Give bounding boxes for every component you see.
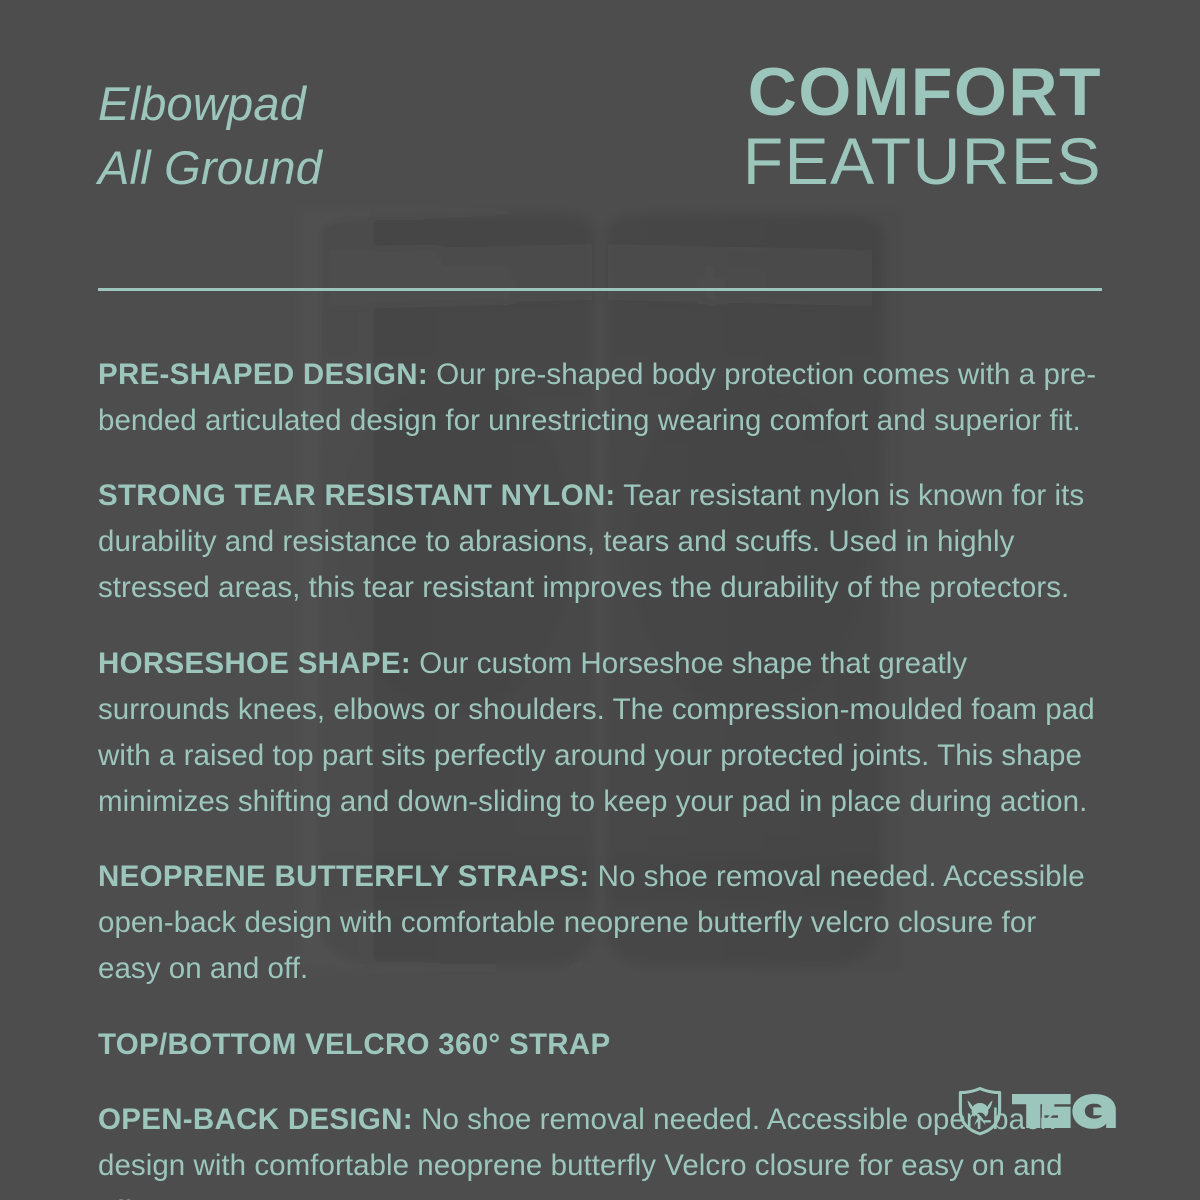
product-title: Elbowpad All Ground: [98, 72, 322, 200]
feature-label: PRE-SHAPED DESIGN:: [98, 358, 428, 391]
section-heading: COMFORT FEATURES: [743, 56, 1102, 196]
header-divider: [98, 288, 1102, 291]
feature-item-horseshoe-shape: HORSESHOE SHAPE: Our custom Horseshoe sh…: [98, 641, 1103, 825]
feature-item-pre-shaped-design: PRE-SHAPED DESIGN: Our pre-shaped body p…: [98, 352, 1103, 444]
feature-item-top-bottom-velcro-360-strap: TOP/BOTTOM VELCRO 360° STRAP: [98, 1022, 1103, 1068]
header: Elbowpad All Ground COMFORT FEATURES: [0, 0, 1200, 290]
feature-label: STRONG TEAR RESISTANT NYLON:: [98, 479, 616, 512]
feature-label: NEOPRENE BUTTERFLY STRAPS:: [98, 860, 589, 893]
product-feature-graphic: Elbowpad All Ground COMFORT FEATURES PRE…: [0, 0, 1200, 1200]
feature-item-open-back-design: OPEN-BACK DESIGN: No shoe removal needed…: [98, 1097, 1103, 1200]
tsg-shield-icon: [957, 1086, 1003, 1136]
brand-logo: [957, 1086, 1116, 1136]
product-title-line-1: Elbowpad: [98, 72, 322, 136]
feature-label: TOP/BOTTOM VELCRO 360° STRAP: [98, 1028, 611, 1061]
feature-item-neoprene-butterfly-straps: NEOPRENE BUTTERFLY STRAPS: No shoe remov…: [98, 854, 1103, 992]
section-heading-secondary: FEATURES: [743, 126, 1102, 196]
feature-list: PRE-SHAPED DESIGN: Our pre-shaped body p…: [98, 322, 1103, 1200]
tsg-wordmark: [1012, 1090, 1116, 1132]
feature-label: HORSESHOE SHAPE:: [98, 647, 411, 680]
feature-label: OPEN-BACK DESIGN:: [98, 1103, 413, 1136]
section-heading-primary: COMFORT: [743, 56, 1102, 128]
feature-item-strong-tear-resistant-nylon: STRONG TEAR RESISTANT NYLON: Tear resist…: [98, 473, 1103, 611]
product-title-line-2: All Ground: [98, 136, 322, 200]
